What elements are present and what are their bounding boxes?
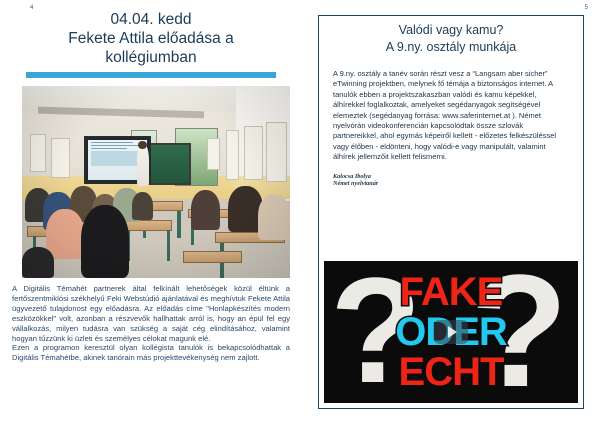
classroom-presentation-photo	[22, 86, 290, 278]
title-divider-rule	[26, 72, 276, 78]
signature-name: Kalocsa Ibolya	[333, 173, 583, 181]
left-title-line-1: 04.04. kedd	[12, 10, 290, 29]
left-title-line-2: Fekete Attila előadása a	[12, 29, 290, 48]
page-number-right: 5	[585, 5, 588, 11]
left-page: 4 04.04. kedd Fekete Attila előadása a k…	[0, 0, 302, 424]
play-triangle-icon	[448, 326, 457, 338]
photo-vignette	[22, 86, 290, 278]
fake-oder-echt-video-thumbnail[interactable]: ? ? FAKE ODER ECHT	[324, 261, 578, 403]
left-title-line-3: kollégiumban	[12, 48, 290, 67]
right-article-body: A 9.ny. osztály a tanév során részt vesz…	[333, 69, 569, 163]
right-body-paragraph: A 9.ny. osztály a tanév során részt vesz…	[333, 69, 569, 163]
signature-role: Német nyelvtanár	[333, 180, 583, 188]
play-button-icon[interactable]	[434, 320, 468, 344]
poster-word-fake: FAKE	[400, 272, 503, 312]
right-page: 5 Valódi vagy kamu? A 9.ny. osztály munk…	[302, 0, 600, 424]
left-body-paragraph: Ezen a programon keresztül olyan kollégi…	[12, 343, 290, 363]
poster-word-echt: ECHT	[399, 352, 504, 392]
article-signature: Kalocsa Ibolya Német nyelvtanár	[333, 173, 583, 188]
left-body-paragraph: A Digitális Témahét partnerek által felk…	[12, 284, 290, 343]
left-article-header: 04.04. kedd Fekete Attila előadása a kol…	[12, 10, 290, 78]
right-title-line-2: A 9.ny. osztály munkája	[319, 40, 583, 56]
right-title-line-1: Valódi vagy kamu?	[319, 23, 583, 39]
left-article-body: A Digitális Témahét partnerek által felk…	[12, 284, 290, 363]
right-article-panel: Valódi vagy kamu? A 9.ny. osztály munkáj…	[318, 15, 584, 409]
